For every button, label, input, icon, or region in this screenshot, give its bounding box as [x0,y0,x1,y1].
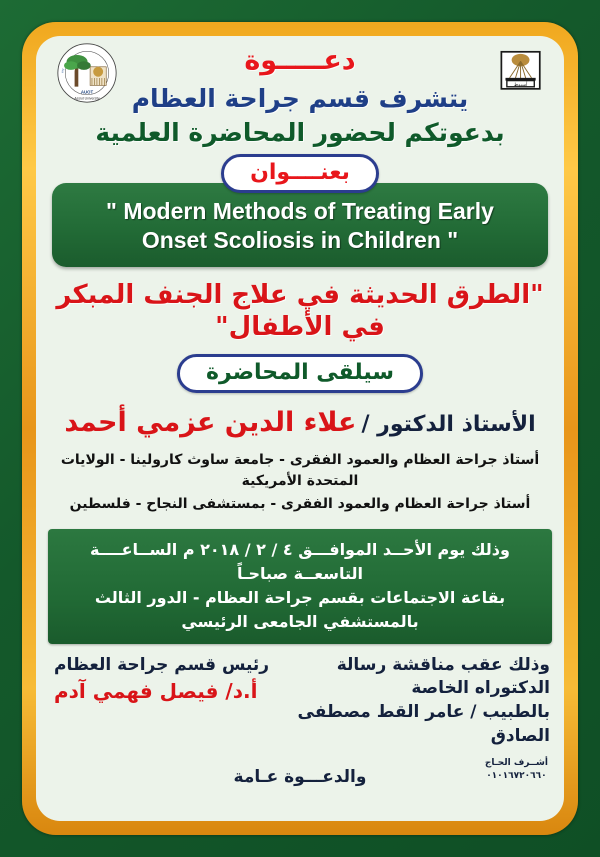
speaker-credential-1: أستاذ جراحة العظام والعمود الفقرى - جامع… [36,450,564,492]
title-badge: بعنــــوان [221,154,379,194]
credit-phone: ٠١٠١٦٧٢٠٦٦٠ [485,770,548,784]
header-line-2: بدعوتكم لحضور المحاضرة العلمية [36,118,564,148]
speaker-prefix: الأستاذ الدكتور / [361,412,535,437]
svg-text:AUOT: AUOT [81,89,94,94]
english-title-line-1: " Modern Methods of Treating Early [62,197,538,226]
event-details-banner: وذلك يوم الأحــد الموافـــق ٤ / ٢ / ٢٠١٨… [48,529,552,644]
general-invitation-note: والدعـــوة عـامة [50,755,550,787]
poster-inner-card: AUOT Assiut University Department of Ort… [36,36,564,821]
chair-title: رئيس قسم جراحة العظام [54,654,269,678]
speaker-badge: سيلقى المحاضرة [177,354,423,394]
event-venue: بقاعة الاجتماعات بقسم جراحة العظام - الد… [58,586,542,634]
assiut-orthopedic-department-logo: AUOT Assiut University Department of Ort… [56,42,118,104]
event-datetime: وذلك يوم الأحــد الموافـــق ٤ / ٢ / ٢٠١٨… [58,538,542,586]
assiut-university-emblem: أسيوط [501,52,539,89]
english-title-line-2: Onset Scoliosis in Children " [62,226,538,255]
svg-text:Assiut University: Assiut University [74,97,99,101]
thesis-note: وذلك عقب مناقشة رسالة الدكتوراه الخاصة ب… [269,654,550,749]
english-title-banner: " Modern Methods of Treating Early Onset… [52,183,548,267]
speaker-block: الأستاذ الدكتور / علاء الدين عزمي أحمد [36,407,564,439]
thesis-line-2: بالطبيب / عامر القط مصطفى الصادق [269,701,550,749]
credit-name: أشــرف الحـاج [485,757,548,771]
invitation-poster: AUOT Assiut University Department of Ort… [0,0,600,857]
speaker-credential-2: أستاذ جراحة العظام والعمود الفقرى - بمست… [36,494,564,515]
department-chair: رئيس قسم جراحة العظام أ.د/ فيصل فهمي آدم [50,654,269,706]
chair-name: أ.د/ فيصل فهمي آدم [54,677,269,705]
red-crescent-and-university-emblem: أسيوط [452,38,548,104]
designer-credit: أشــرف الحـاج ٠١٠١٦٧٢٠٦٦٠ [485,757,548,784]
footer-block: وذلك عقب مناقشة رسالة الدكتوراه الخاصة ب… [50,654,550,749]
poster-content: AUOT Assiut University Department of Ort… [36,36,564,821]
footer-tail: والدعـــوة عـامة أشــرف الحـاج ٠١٠١٦٧٢٠٦… [50,755,550,795]
arabic-title: "الطرق الحديثة في علاج الجنف المبكر في ا… [40,279,560,344]
red-crescent-icon [464,44,491,99]
speaker-name: علاء الدين عزمي أحمد [64,407,356,438]
thesis-line-1: وذلك عقب مناقشة رسالة الدكتوراه الخاصة [269,654,550,702]
